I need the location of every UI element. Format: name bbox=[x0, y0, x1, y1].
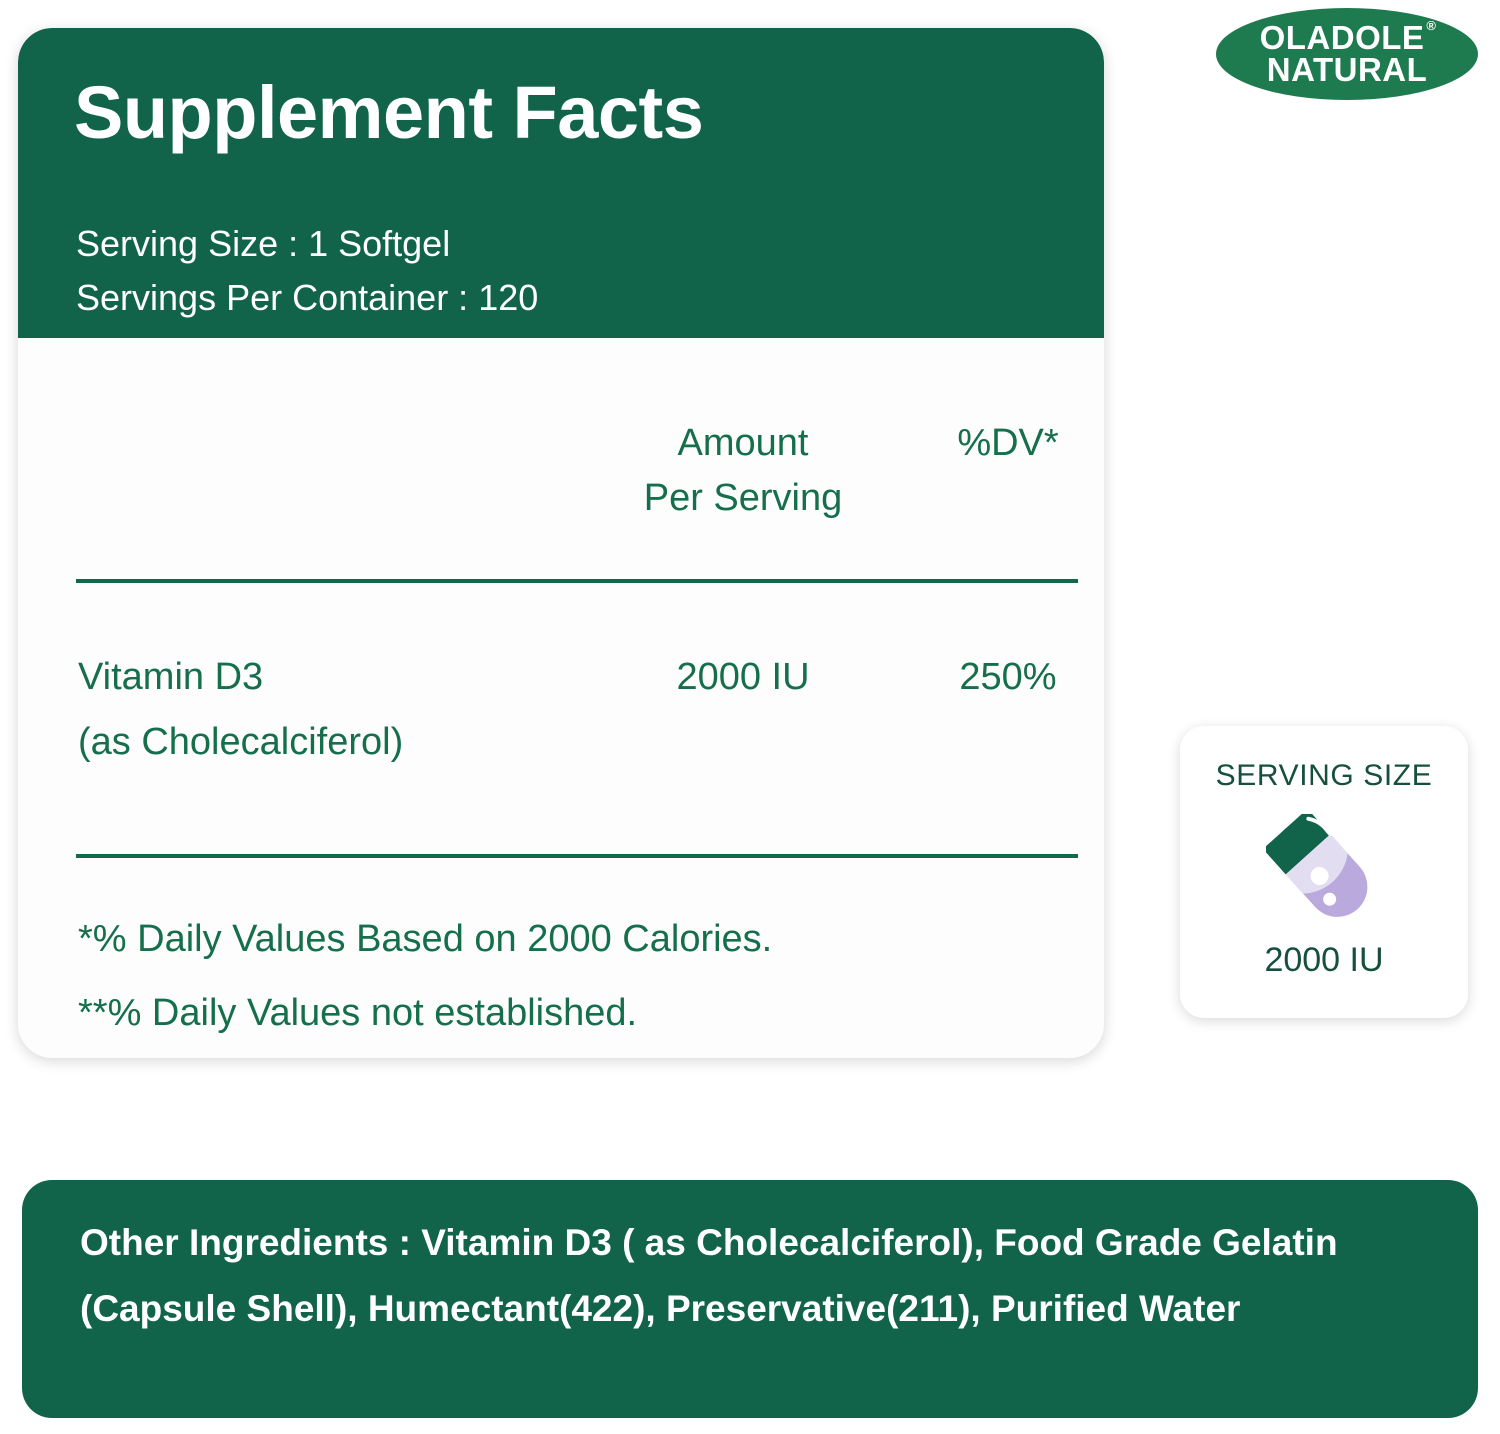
footnote-daily-values-not-established: **% Daily Values not established. bbox=[78, 976, 772, 1050]
footnotes-group: *% Daily Values Based on 2000 Calories. … bbox=[78, 902, 772, 1050]
nutrient-name-line1: Vitamin D3 bbox=[78, 645, 403, 710]
other-ingredients-text: Other Ingredients : Vitamin D3 ( as Chol… bbox=[80, 1210, 1430, 1342]
column-header-amount-line1: Amount bbox=[578, 416, 908, 471]
nutrient-name-line2: (as Cholecalciferol) bbox=[78, 710, 403, 775]
registered-trademark-icon: ® bbox=[1426, 20, 1436, 32]
serving-size-card-title: SERVING SIZE bbox=[1180, 759, 1468, 793]
supplement-facts-panel: Supplement Facts Serving Size : 1 Softge… bbox=[18, 28, 1104, 1058]
page-title: Supplement Facts bbox=[74, 76, 703, 150]
serving-size-card: SERVING SIZE 2000 IU bbox=[1180, 726, 1468, 1018]
nutrient-amount-value: 2000 IU bbox=[578, 645, 908, 710]
brand-logo: OLADOLE® NATURAL bbox=[1216, 8, 1478, 100]
other-ingredients-panel: Other Ingredients : Vitamin D3 ( as Chol… bbox=[22, 1180, 1478, 1418]
serving-size-label: Serving Size : 1 Softgel bbox=[76, 226, 450, 262]
nutrient-daily-value: 250% bbox=[908, 645, 1104, 710]
capsule-icon bbox=[1266, 814, 1382, 930]
servings-per-container-label: Servings Per Container : 120 bbox=[76, 280, 538, 316]
column-header-daily-value: %DV* bbox=[908, 416, 1104, 471]
column-header-amount-per-serving: Amount Per Serving bbox=[578, 416, 908, 526]
capsule-icon-holder bbox=[1180, 812, 1468, 932]
table-rule-top bbox=[76, 579, 1078, 583]
nutrient-name: Vitamin D3 (as Cholecalciferol) bbox=[78, 645, 403, 774]
table-rule-bottom bbox=[76, 854, 1078, 858]
logo-brand-name: OLADOLE® bbox=[1260, 22, 1435, 54]
logo-text-group: OLADOLE® NATURAL bbox=[1216, 8, 1478, 100]
serving-size-card-value: 2000 IU bbox=[1180, 941, 1468, 980]
logo-brand-subtitle: NATURAL bbox=[1267, 54, 1428, 86]
footnote-daily-values-basis: *% Daily Values Based on 2000 Calories. bbox=[78, 902, 772, 976]
column-header-amount-line2: Per Serving bbox=[578, 471, 908, 526]
logo-brand-name-text: OLADOLE bbox=[1260, 19, 1425, 56]
